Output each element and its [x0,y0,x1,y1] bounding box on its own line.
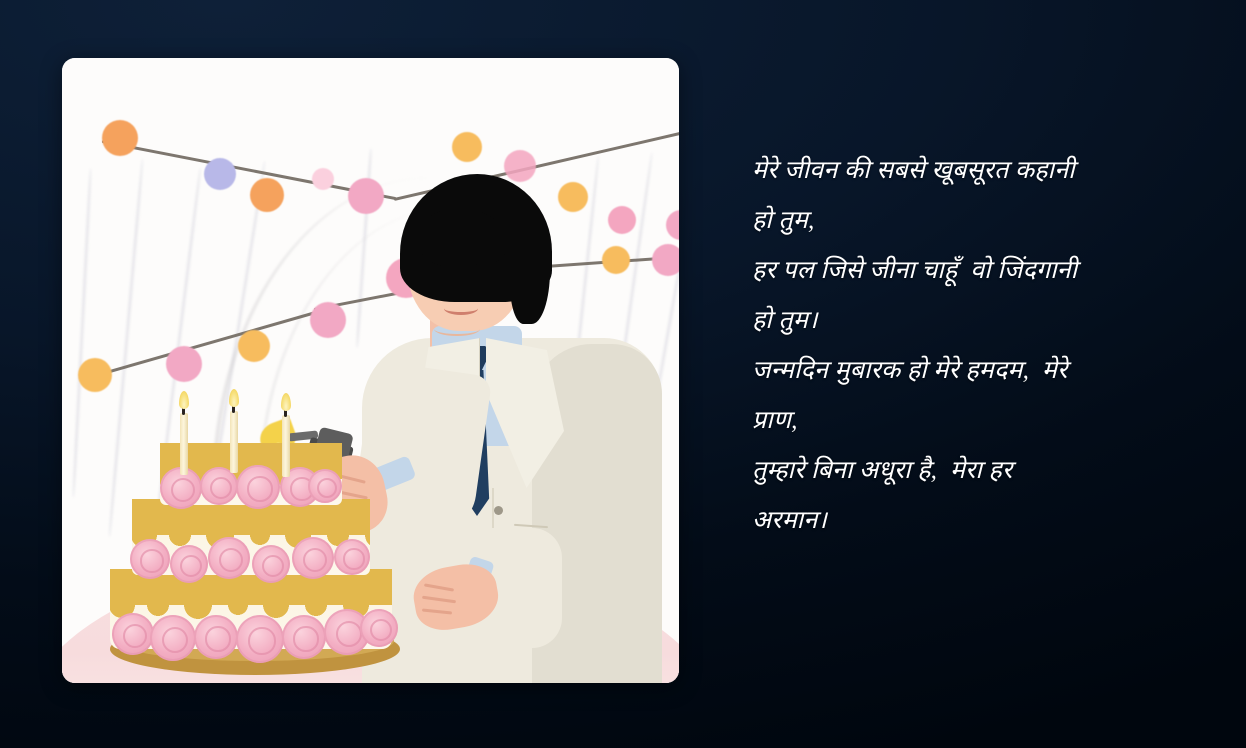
frosting-rosette [150,615,196,661]
bunting-bulb [102,120,138,156]
frosting-rosette [208,537,250,579]
bunting-bulb [166,346,202,382]
chin-line [434,322,480,336]
message-line: हर पल जिसे जीना चाहूँ वो जिंदगानी [752,246,1202,296]
bunting-bulb [348,178,384,214]
jacket-button [494,506,503,515]
bunting-bulb [310,302,346,338]
message-line: जन्मदिन मुबारक हो मेरे हमदम, मेरे [752,346,1202,396]
bunting-bulb [312,168,334,190]
message-line: तुम्हारे बिना अधूरा है, मेरा हर [752,446,1202,496]
bunting-bulb [238,330,270,362]
bunting-bulb [558,182,588,212]
frosting-rosette [236,465,280,509]
message-line: अरमान। [752,496,1202,546]
frosting-rosette [282,615,326,659]
message-line: हो तुम, [752,196,1202,246]
hair-side [510,208,550,324]
birthday-cake [102,415,402,675]
bunting-bulb [504,150,536,182]
candle [230,411,238,473]
bunting-bulb [602,246,630,274]
frosting-rosette [292,537,334,579]
frosting-rosette [252,545,290,583]
frosting-rosette [236,615,284,663]
bunting-bulb [652,244,679,276]
frosting-rosette [308,469,342,503]
frosting-rosette [112,613,154,655]
bunting-bulb [78,358,112,392]
frosting-rosette [170,545,208,583]
bunting-bulb [204,158,236,190]
message-line: प्राण, [752,396,1202,446]
smiling-mouth [444,302,478,315]
frosting-rosette [194,615,238,659]
candle [282,415,290,477]
candle [180,413,188,475]
message-line: मेरे जीवन की सबसे खूबसूरत कहानी [752,146,1202,196]
birthday-illustration-card [62,58,679,683]
birthday-message: मेरे जीवन की सबसे खूबसूरत कहानी हो तुम, … [752,146,1202,546]
bunting-bulb [608,206,636,234]
frosting-rosette [130,539,170,579]
bunting-bulb [250,178,284,212]
frosting-rosette [360,609,398,647]
bunting-bulb [452,132,482,162]
frosting-rosette [334,539,370,575]
message-line: हो तुम। [752,296,1202,346]
illustration-scene [62,58,679,683]
